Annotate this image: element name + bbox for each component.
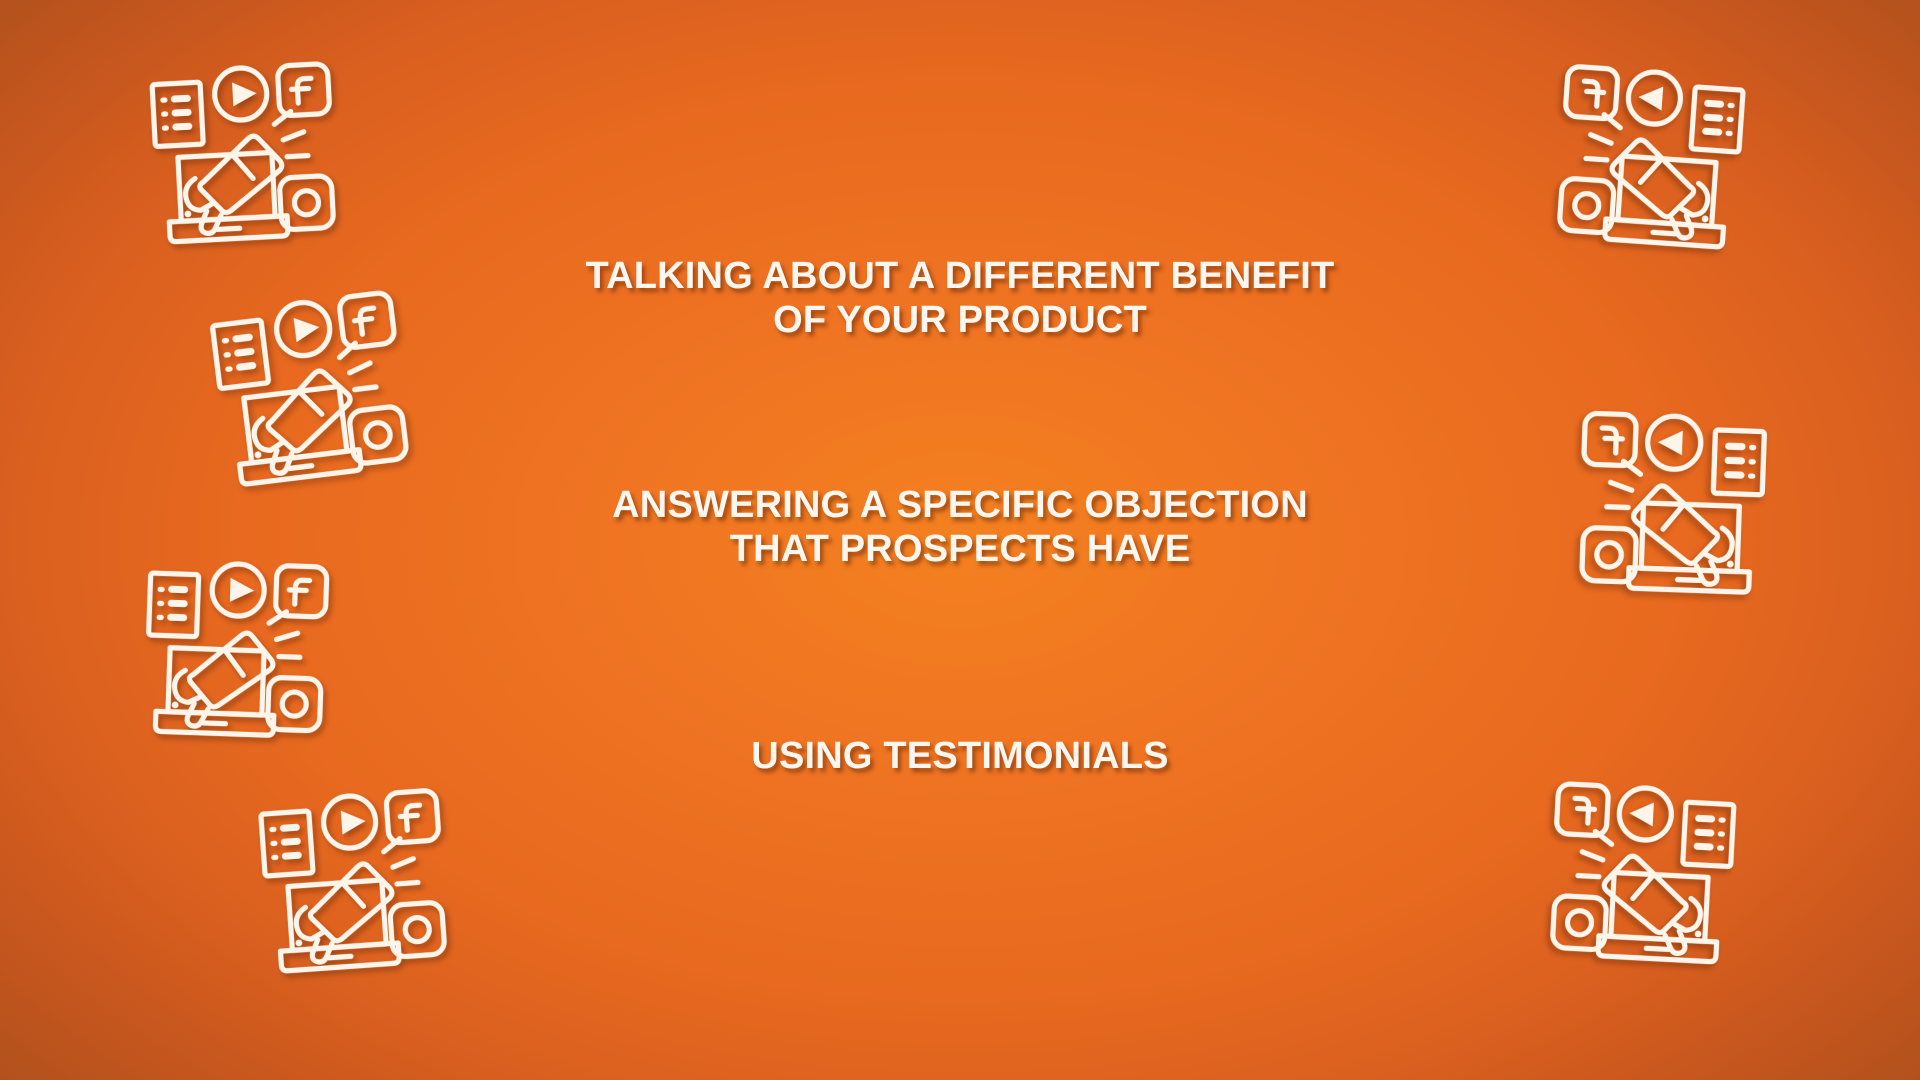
slide-canvas: TALKING ABOUT A DIFFERENT BENEFIT OF YOU… <box>0 0 1920 1080</box>
background-gradient <box>0 0 1920 1080</box>
